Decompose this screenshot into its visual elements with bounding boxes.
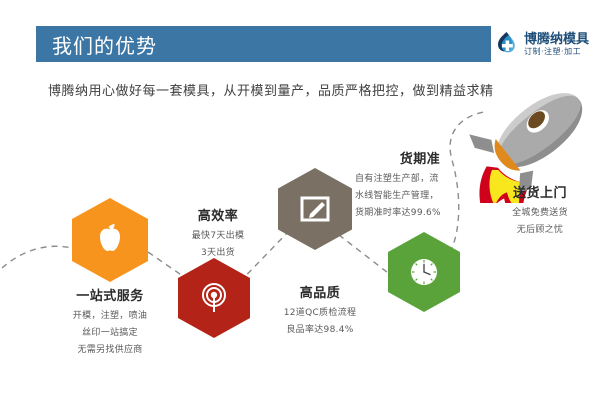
step-heading: 高效率 [138, 205, 298, 224]
step-line: 水线智能生产管理， [345, 188, 495, 201]
step-block-door-to-door-delivery: 送货上门 全城免费送货 无后顾之忧 [480, 182, 600, 235]
step-line: 开模，注塑，喷油 [30, 308, 190, 321]
step-line: 3天出货 [138, 245, 298, 258]
clock-icon [411, 259, 437, 285]
hexagon-one-stop-service[interactable] [72, 198, 148, 282]
step-line: 货期准时率达99.6% [345, 205, 495, 218]
slide-canvas: 我们的优势 博腾纳模具 订制·注塑·加工 博腾纳用心做好每一套模具，从开模到量产… [0, 0, 600, 400]
step-line: 无后顾之忧 [480, 222, 600, 235]
step-line: 无需另找供应商 [30, 342, 190, 355]
step-heading: 高品质 [240, 282, 400, 301]
step-block-high-efficiency: 高效率 最快7天出模 3天出货 [138, 205, 298, 258]
step-line: 丝印一站搞定 [30, 325, 190, 338]
step-heading: 货期准 [345, 148, 495, 167]
step-line: 全城免费送货 [480, 205, 600, 218]
step-block-on-time-delivery: 货期准 自有注塑生产部，流 水线智能生产管理， 货期准时率达99.6% [345, 148, 495, 218]
step-heading: 送货上门 [480, 182, 600, 201]
step-block-high-quality: 高品质 12道QC质检流程 良品率达98.4% [240, 282, 400, 335]
step-line: 自有注塑生产部，流 [345, 171, 495, 184]
step-block-one-stop-service: 一站式服务 开模，注塑，喷油 丝印一站搞定 无需另找供应商 [30, 285, 190, 355]
step-line: 12道QC质检流程 [240, 305, 400, 318]
step-heading: 一站式服务 [30, 285, 190, 304]
step-line: 最快7天出模 [138, 228, 298, 241]
step-line: 良品率达98.4% [240, 322, 400, 335]
